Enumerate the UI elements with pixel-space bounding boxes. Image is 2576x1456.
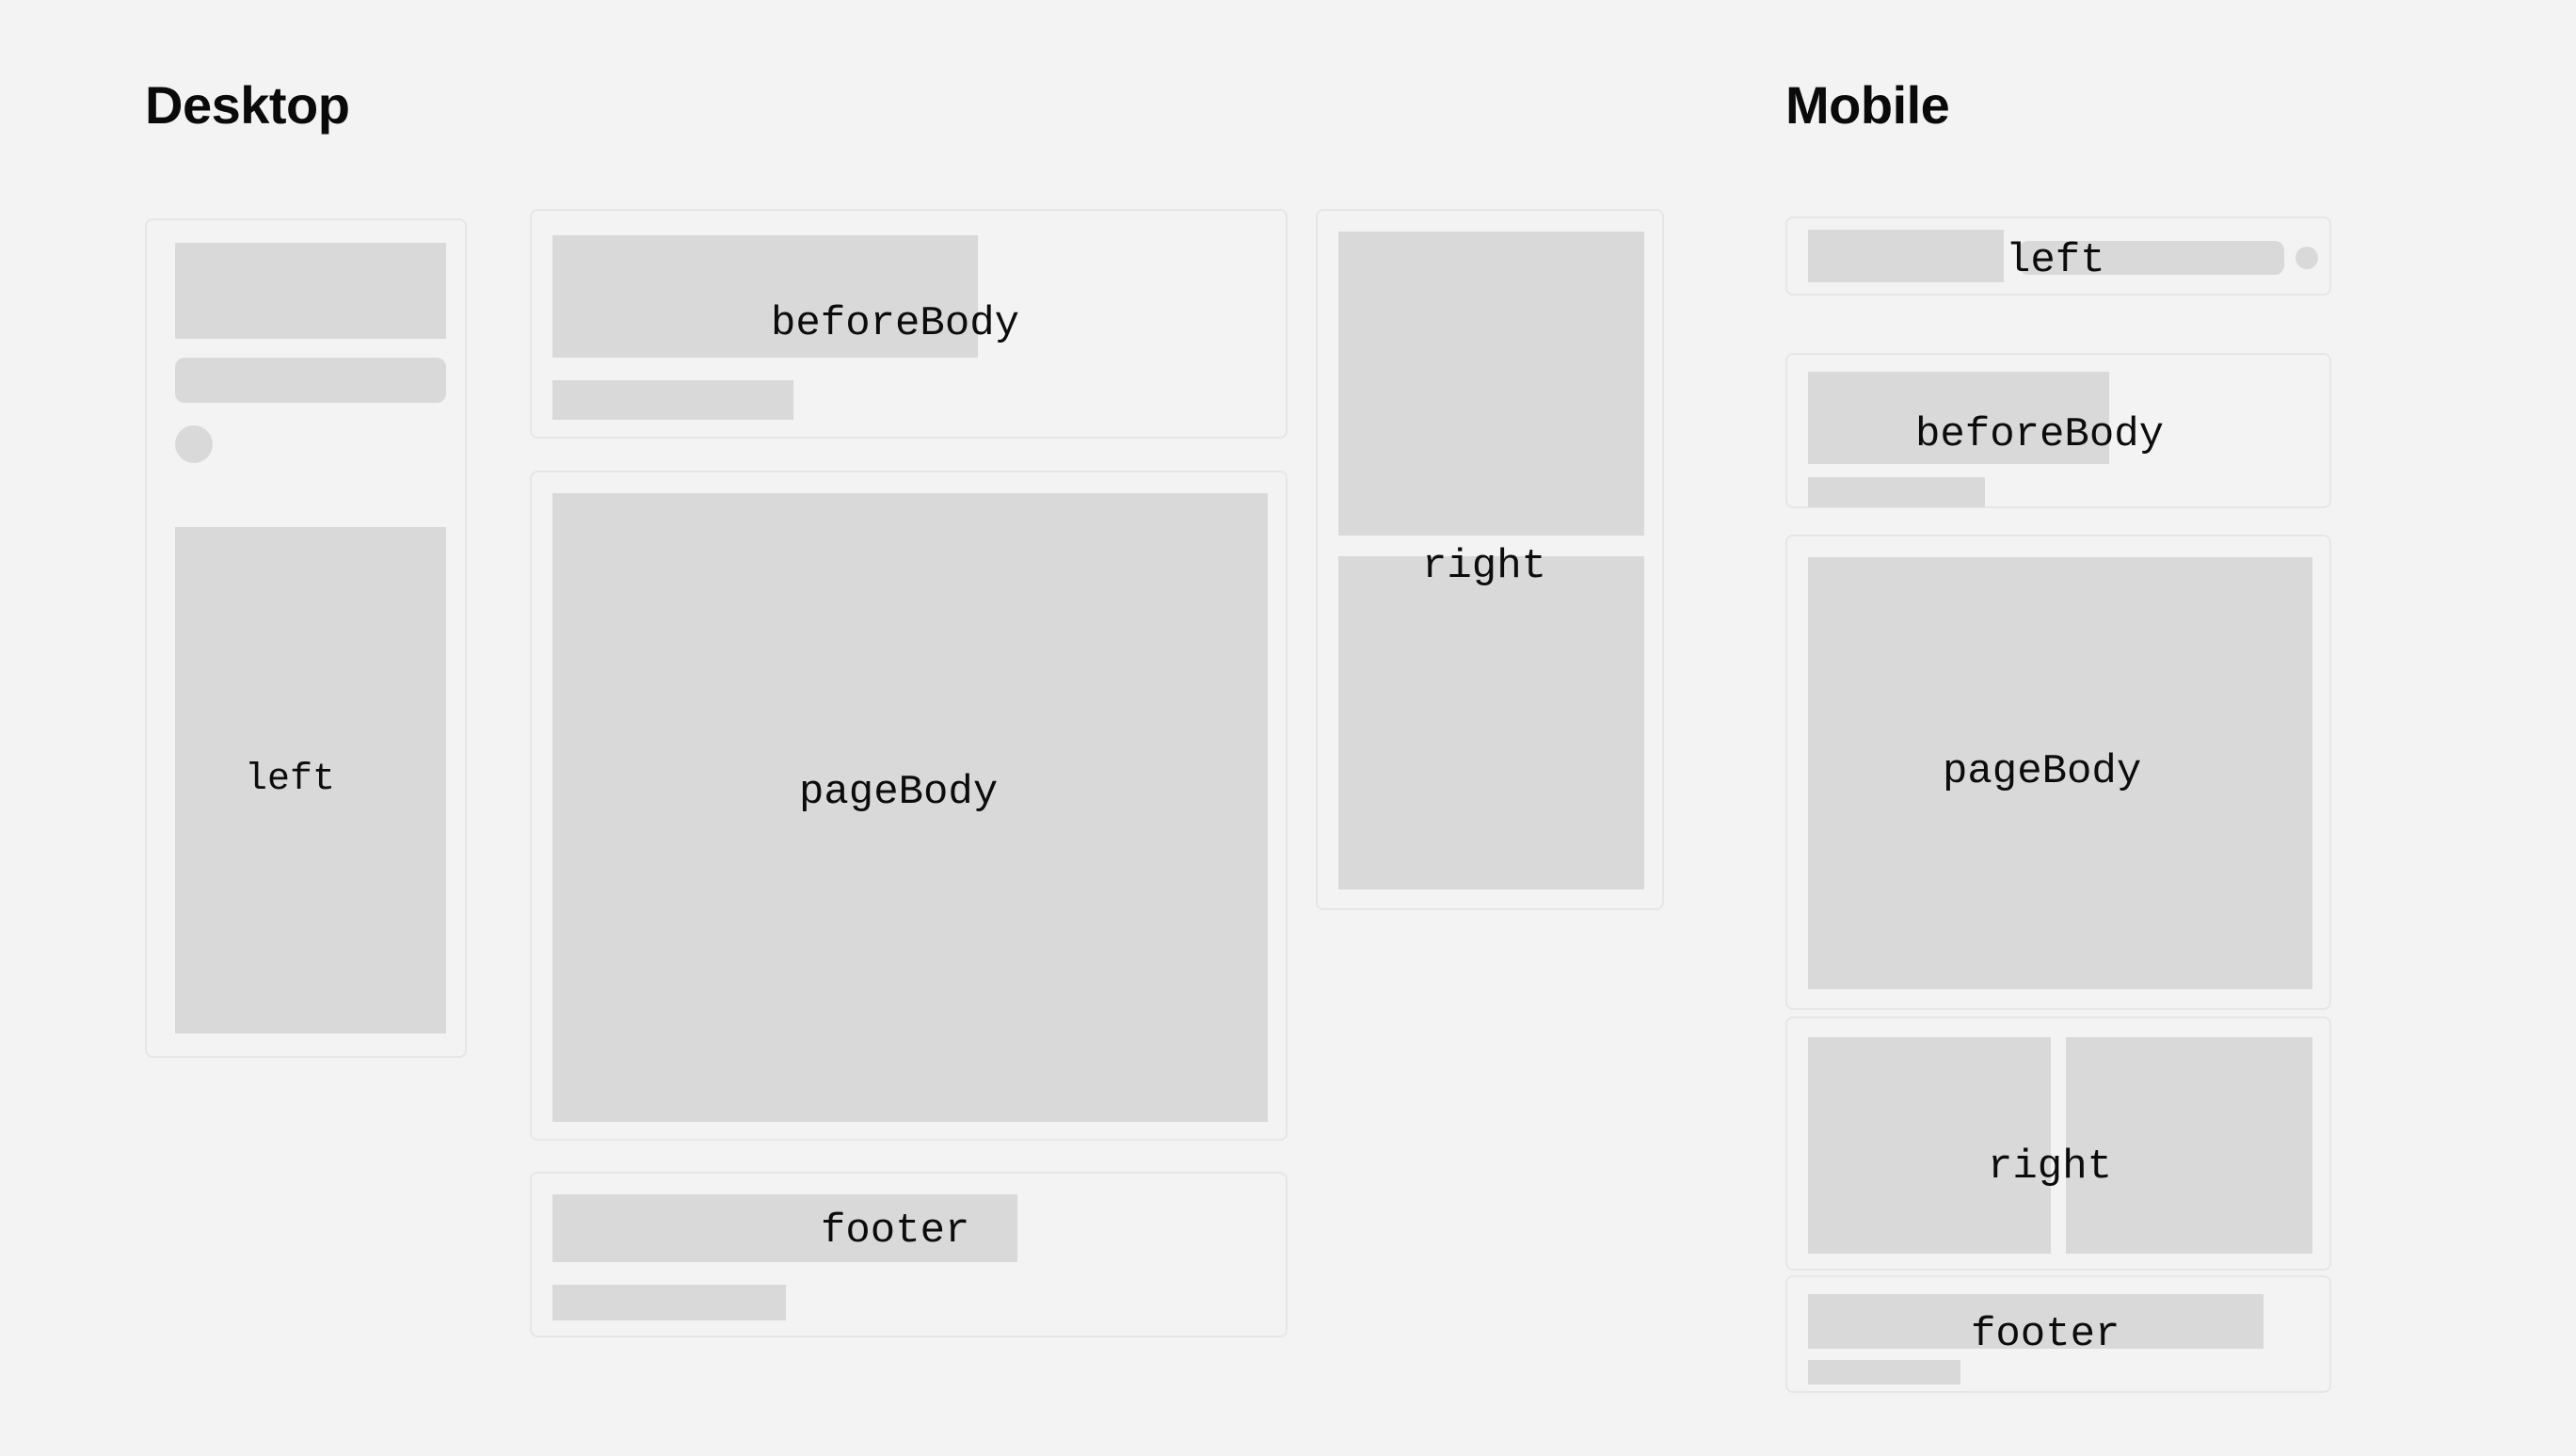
desktop-footer-card[interactable] (530, 1172, 1288, 1337)
desktop-left-pill-bar (175, 358, 446, 403)
mobile-beforebody-caption-bar (1808, 477, 1985, 507)
mobile-footer-card[interactable] (1785, 1275, 2331, 1393)
desktop-left-avatar-dot (175, 425, 213, 463)
mobile-left-card[interactable] (1785, 216, 2331, 296)
mobile-left-header-block (1808, 230, 2004, 282)
mobile-section-title: Mobile (1785, 79, 1949, 132)
desktop-pagebody-block (552, 493, 1268, 1122)
mobile-footer-caption-bar (1808, 1360, 1960, 1384)
mobile-beforebody-hero-block (1808, 372, 2109, 464)
mobile-right-card[interactable] (1785, 1016, 2331, 1271)
wireframe-canvas: Desktop left beforeBody pageBody right f… (0, 0, 2576, 1456)
desktop-before-body-card[interactable] (530, 209, 1288, 439)
mobile-page-body-card[interactable] (1785, 535, 2331, 1010)
desktop-left-header-block (175, 243, 446, 339)
desktop-page-body-card[interactable] (530, 471, 1288, 1141)
desktop-right-block-top (1338, 232, 1644, 536)
desktop-section-title: Desktop (145, 79, 349, 132)
desktop-right-block-bottom (1338, 556, 1644, 889)
desktop-left-panel-card[interactable]: left (145, 218, 467, 1058)
desktop-beforebody-caption-bar (552, 380, 793, 420)
mobile-left-pill-bar (2019, 241, 2284, 275)
desktop-footer-bar (552, 1194, 1017, 1262)
desktop-left-slot-block (175, 527, 446, 1033)
mobile-right-block-left (1808, 1037, 2051, 1254)
mobile-before-body-card[interactable] (1785, 353, 2331, 508)
mobile-left-avatar-dot (2296, 247, 2318, 269)
desktop-right-panel-card[interactable] (1316, 209, 1664, 910)
desktop-beforebody-hero-block (552, 235, 978, 358)
desktop-footer-caption-bar (552, 1285, 786, 1320)
mobile-pagebody-block (1808, 557, 2312, 989)
mobile-right-block-right (2066, 1037, 2312, 1254)
mobile-footer-bar (1808, 1294, 2264, 1349)
